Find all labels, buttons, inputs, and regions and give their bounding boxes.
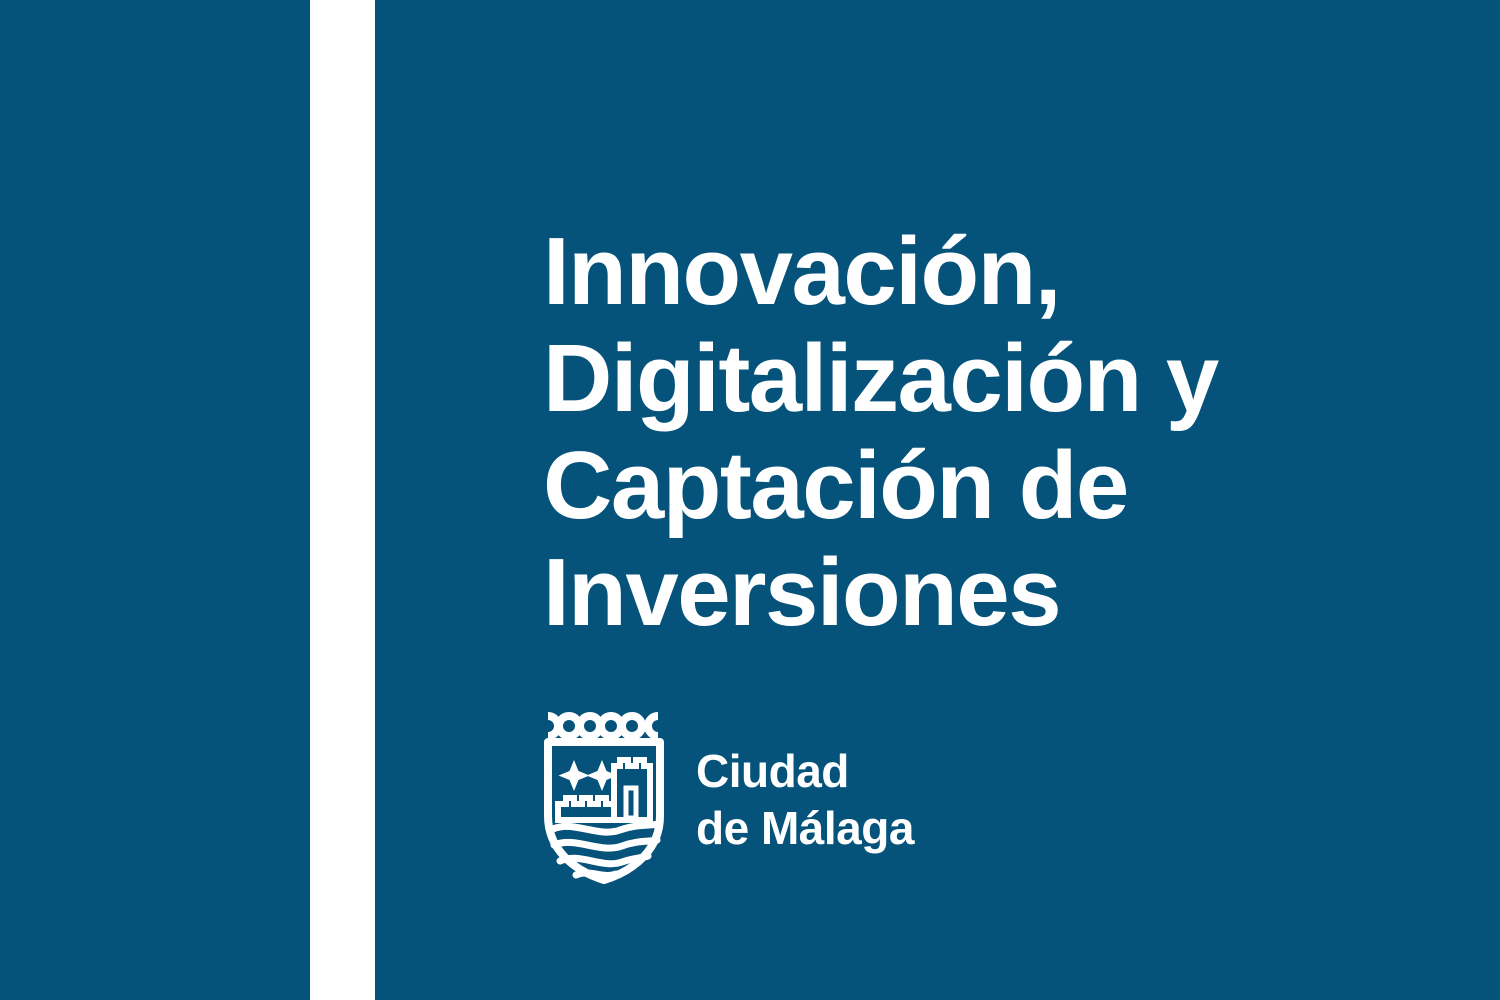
title-line-1: Innovación, [543,218,1303,325]
content-block: Innovación, Digitalización y Captación d… [543,0,1473,1000]
title-card-canvas: Innovación, Digitalización y Captación d… [0,0,1500,1000]
page-title: Innovación, Digitalización y Captación d… [543,218,1303,646]
ciudad-de-malaga-logo: Ciudad de Málaga [540,712,914,884]
title-line-2: Digitalización y [543,325,1303,432]
malaga-coat-of-arms-icon [540,712,668,884]
title-line-3: Captación de [543,432,1303,539]
logo-wordmark-line-1: Ciudad [696,743,914,800]
logo-wordmark: Ciudad de Málaga [696,739,914,857]
white-vertical-gap [310,0,375,1000]
title-line-4: Inversiones [543,539,1303,646]
logo-wordmark-line-2: de Málaga [696,800,914,857]
left-blue-band [0,0,310,1000]
